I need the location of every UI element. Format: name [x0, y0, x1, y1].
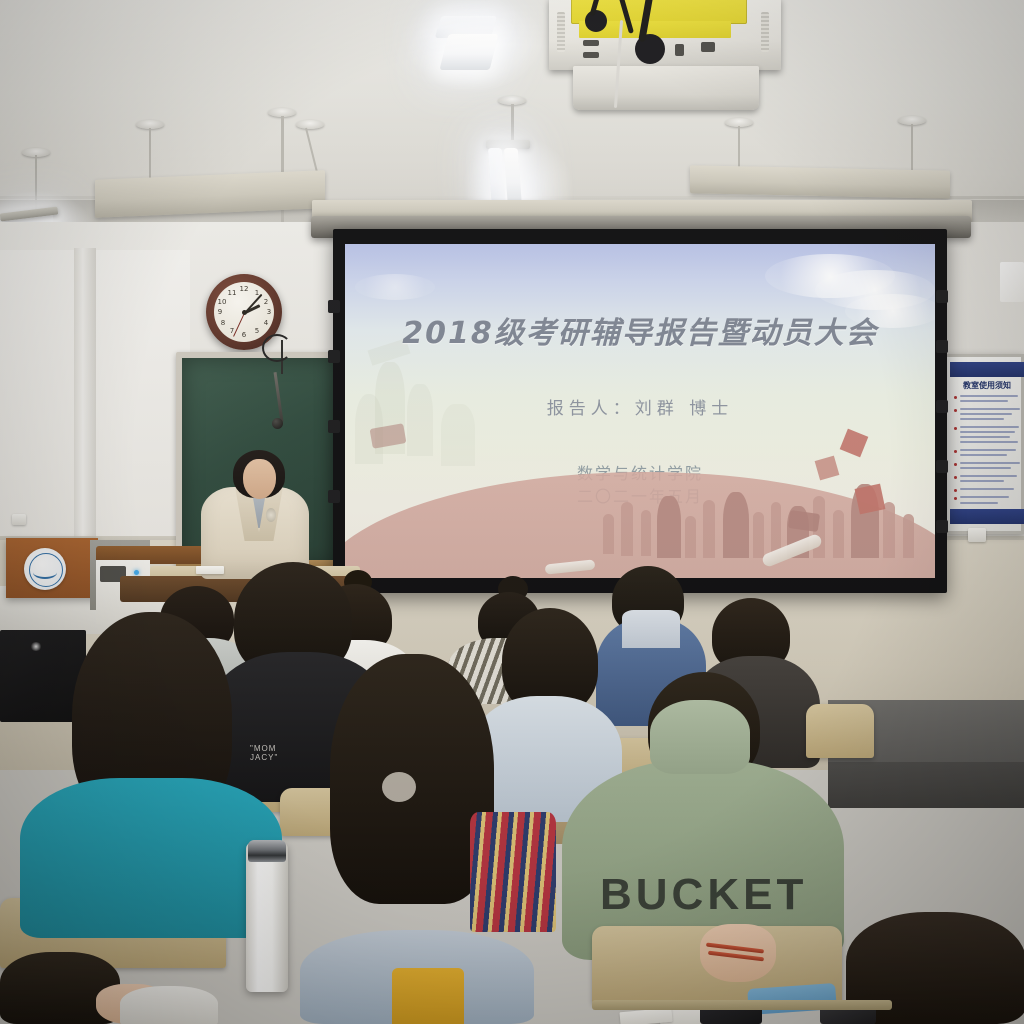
projector-port [583, 52, 599, 58]
clock-numeral: 10 [217, 298, 227, 306]
notice-bullet [954, 489, 957, 492]
light-rod-base [296, 120, 324, 129]
chair-back [806, 704, 874, 758]
window-glare [1000, 262, 1024, 302]
graduation-cap-icon [855, 484, 886, 515]
clock-numeral: 6 [239, 331, 249, 339]
slide-presenter: 报告人：刘群 博士 [345, 394, 935, 419]
projector-port [701, 42, 715, 52]
silhouette-arm [621, 502, 633, 556]
power-led-icon [134, 570, 139, 575]
clock-numeral: 12 [239, 285, 249, 293]
silhouette-arm [603, 514, 614, 554]
notice-banner-top [950, 362, 1024, 377]
clock-numeral: 4 [261, 319, 271, 327]
notice-text-line [960, 496, 1009, 498]
clock-center-pin [242, 310, 247, 315]
microphone-cable-loop [262, 334, 292, 362]
notice-text-line [960, 467, 1011, 469]
light-rod [511, 104, 514, 144]
screen-edge-tab [328, 300, 340, 313]
screen-edge-tab [328, 420, 340, 433]
screen-edge-tab [936, 460, 948, 473]
silhouette-arm [703, 500, 715, 558]
notice-banner-bottom [950, 509, 1024, 524]
cloud-graphic [355, 274, 435, 300]
notice-text-line [960, 502, 998, 504]
ceiling-beam-strip [690, 165, 950, 198]
slide-title: 2018级考研辅导报告暨动员大会 [345, 308, 935, 352]
screen-edge-tab [936, 520, 948, 533]
notice-bullet [954, 463, 957, 466]
projector-vent [557, 12, 565, 52]
notice-text-line [960, 413, 1012, 415]
notice-text-line [960, 436, 1010, 438]
silhouette-arm [685, 516, 696, 558]
silhouette-arm [883, 502, 895, 558]
emblem-swoosh [33, 566, 57, 579]
silhouette-figure [723, 492, 749, 558]
screen-edge-tab [328, 350, 340, 363]
notice-bullet [954, 497, 957, 500]
projector-port [583, 40, 599, 46]
notice-bullet [954, 396, 957, 399]
thermos-cap [248, 840, 286, 862]
jacket-print-text: "MOM JACY" [250, 744, 278, 762]
wall-outlet [968, 528, 986, 542]
classroom-photo-scene: 12 1 2 3 4 5 6 7 8 9 10 11 教室使用须知 [0, 0, 1024, 1024]
silhouette-arm [903, 514, 914, 558]
student-hood [650, 700, 750, 774]
jacket-print-text: BUCKET [600, 870, 807, 920]
screen-edge-tab [328, 490, 340, 503]
clock-numeral: 2 [261, 298, 271, 306]
projector-lens-housing [573, 66, 759, 110]
ceiling-light-tube [440, 34, 499, 70]
silhouette-arm [641, 510, 651, 556]
clock-numeral: 9 [215, 308, 225, 316]
wall-outlet [12, 514, 26, 525]
student-yellow-shirt [392, 968, 464, 1024]
student-teal-hoodie [20, 778, 282, 938]
screen-edge-tab [936, 340, 948, 353]
presenter-face [243, 459, 276, 499]
paper-on-lectern [196, 566, 224, 574]
notice-text-line [960, 449, 1016, 451]
clock-numeral: 5 [252, 327, 262, 335]
clock-numeral: 8 [218, 319, 228, 327]
student-collar [622, 610, 680, 648]
wall-pillar [74, 248, 96, 548]
notice-bullet [954, 409, 957, 412]
student-patterned-vest [470, 812, 556, 932]
notice-text-line [960, 431, 1015, 433]
screen-edge-tab [936, 290, 948, 303]
silhouette-figure [657, 496, 681, 558]
silhouette-arm [753, 512, 764, 558]
stage-platform-face [828, 762, 1024, 808]
notice-text-line [960, 400, 1008, 402]
monitor-glint [30, 642, 42, 651]
notice-bullet [954, 476, 957, 479]
desk-surface [592, 1000, 892, 1010]
projector-cable-knob [585, 10, 607, 32]
notice-text-line [960, 395, 1018, 397]
presentation-slide: 2018级考研辅导报告暨动员大会 报告人：刘群 博士 数学与统计学院 二〇二一年… [345, 244, 935, 578]
notice-bullet [954, 450, 957, 453]
notice-text-line [960, 488, 1014, 490]
screen-edge-tab [936, 400, 948, 413]
hair-scrunchie [382, 772, 416, 802]
notice-text-line [960, 441, 1018, 443]
silhouette-arm [833, 510, 844, 558]
projector-port [675, 44, 684, 56]
notice-text-line [960, 426, 1019, 428]
notice-text-line [960, 454, 1007, 456]
notice-text-line [960, 408, 1020, 410]
notice-bullet [954, 427, 957, 430]
notice-board-title: 教室使用须知 [947, 380, 1024, 391]
notice-text-line [960, 418, 1004, 420]
notice-text-line [960, 475, 1017, 477]
clock-numeral: 3 [264, 308, 274, 316]
projector-vent [761, 12, 769, 52]
thermos-bottle [246, 842, 288, 992]
presenter-brooch [266, 508, 276, 522]
notice-text-line [960, 480, 1004, 482]
student-white-sleeve [120, 986, 218, 1024]
microphone-icon [272, 418, 283, 429]
graduation-cap-icon [840, 429, 869, 458]
handout-paper [619, 1008, 672, 1024]
projector [549, 0, 781, 112]
notice-board: 教室使用须知 [944, 354, 1024, 534]
notice-text-line [960, 462, 1020, 464]
clock-numeral: 11 [227, 289, 237, 297]
